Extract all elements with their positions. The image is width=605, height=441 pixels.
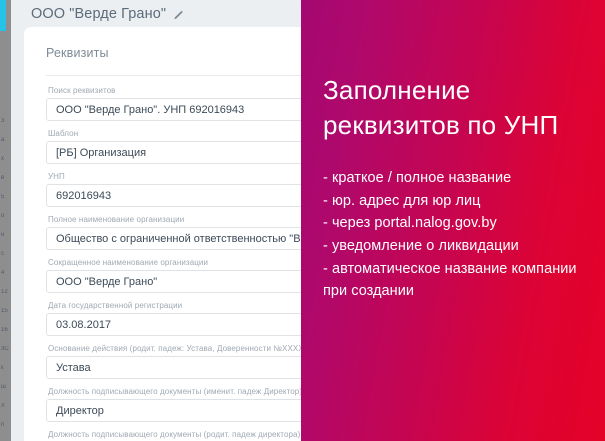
sidebar-fragment: 5	[1, 194, 10, 201]
position-nominative-input[interactable]: Директор	[46, 399, 344, 422]
sidebar-fragment: 4	[1, 270, 10, 277]
sidebar-fragment: c	[1, 251, 10, 258]
promo-bullet: - краткое / полное название	[323, 167, 605, 190]
promo-heading: Заполнение реквизитов по УНП	[323, 73, 593, 142]
sidebar-fragment: в	[1, 175, 10, 182]
promo-bullet: - уведомление о ликвидации	[323, 235, 605, 258]
sidebar-fragment: a	[1, 137, 10, 144]
sidebar-fragment: о	[1, 213, 10, 220]
promo-heading-line-2: реквизитов по УНП	[323, 108, 593, 143]
sidebar-fragment: 15	[1, 308, 10, 315]
sidebar-accent-bar	[0, 0, 6, 31]
promo-bullet: - юр. адрес для юр лиц	[323, 190, 605, 213]
full-name-input[interactable]: Общество с ограниченной ответственностью…	[46, 227, 344, 250]
unp-input[interactable]: 692016943	[46, 184, 344, 207]
pencil-icon[interactable]	[173, 10, 183, 20]
search-input[interactable]: ООО "Верде Грано". УНП 692016943	[46, 98, 344, 121]
promo-heading-line-1: Заполнение	[323, 73, 593, 108]
sidebar-cutoff-strip[interactable]: 3axв5онc41215163Cкшлn	[0, 0, 11, 441]
promo-bullet: - через portal.nalog.gov.by	[323, 212, 605, 235]
sidebar-fragment: n	[1, 422, 10, 429]
promo-panel: Заполнение реквизитов по УНП - краткое /…	[301, 0, 605, 441]
sidebar-fragment: 16	[1, 327, 10, 334]
sidebar-fragment: н	[1, 232, 10, 239]
promo-bullet: - автоматическое название компании при с…	[323, 258, 601, 303]
page-title: ООО "Верде Грано"	[31, 6, 166, 22]
registration-date-input[interactable]: 03.08.2017	[46, 313, 344, 336]
promo-bullet-list: - краткое / полное название - юр. адрес …	[323, 167, 605, 303]
sidebar-fragment: к	[1, 365, 10, 372]
basis-of-action-input[interactable]: Устава	[46, 356, 344, 379]
sidebar-fragment: 3C	[1, 346, 10, 353]
sidebar-fragment: 12	[1, 289, 10, 296]
sidebar-fragment: л	[1, 403, 10, 410]
template-input[interactable]: [РБ] Организация	[46, 141, 344, 164]
short-name-input[interactable]: ООО "Верде Грано"	[46, 270, 344, 293]
sidebar-fragment: ш	[1, 384, 10, 391]
sidebar-fragment: x	[1, 156, 10, 163]
sidebar-fragment: 3	[1, 118, 10, 125]
